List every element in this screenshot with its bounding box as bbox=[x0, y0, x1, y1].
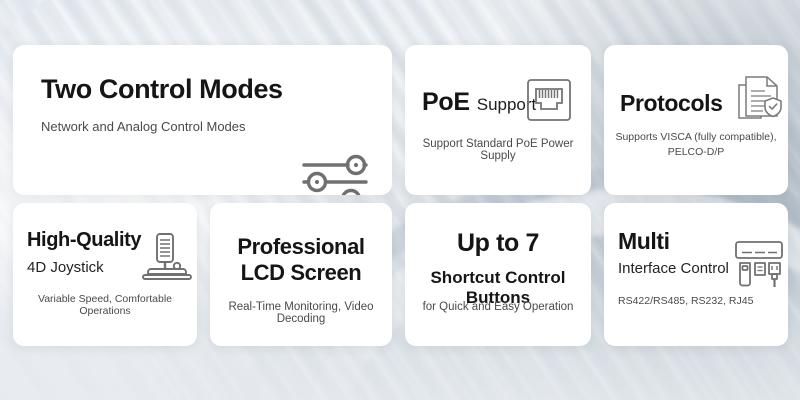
feature-card-grid: Two Control Modes Network and Analog Con… bbox=[0, 0, 800, 400]
card-title: Protocols bbox=[620, 91, 722, 115]
card-title: High-Quality bbox=[27, 230, 141, 251]
card-subtitle: Interface Control bbox=[618, 260, 729, 277]
card-description-line2: PELCO-D/P bbox=[668, 146, 725, 158]
joystick-icon bbox=[141, 228, 193, 284]
card-poe-support[interactable]: PoE Support Support Standard PoE Power S… bbox=[405, 45, 591, 195]
card-title-line1: Professional bbox=[237, 234, 364, 259]
card-multi-interface[interactable]: Multi Interface Control RS422/RS485, RS2… bbox=[604, 203, 788, 346]
usb-hub-icon bbox=[732, 239, 786, 291]
card-protocols[interactable]: Protocols Supports VISCA (fully compatib… bbox=[604, 45, 788, 195]
card-title: Professional LCD Screen bbox=[210, 234, 392, 286]
card-description: Real-Time Monitoring, Video Decoding bbox=[210, 301, 392, 325]
card-description: Network and Analog Control Modes bbox=[41, 119, 246, 134]
card-description: RS422/RS485, RS232, RJ45 bbox=[618, 295, 753, 307]
card-shortcut-buttons[interactable]: Up to 7 Shortcut Control Buttons for Qui… bbox=[405, 203, 591, 346]
card-description: Support Standard PoE Power Supply bbox=[405, 138, 591, 162]
card-description: Variable Speed, Comfortable Operations bbox=[13, 293, 197, 317]
card-high-quality-joystick[interactable]: High-Quality 4D Joystick Variable Speed,… bbox=[13, 203, 197, 346]
sliders-icon bbox=[301, 153, 369, 195]
rj45-port-icon bbox=[526, 78, 572, 122]
card-title-line2: LCD Screen bbox=[241, 260, 362, 285]
documents-shield-icon bbox=[735, 72, 785, 124]
card-description-line1: Supports VISCA (fully compatible), bbox=[615, 131, 776, 143]
card-description: Supports VISCA (fully compatible), PELCO… bbox=[610, 130, 782, 160]
card-title: Multi bbox=[618, 229, 670, 253]
card-lcd-screen[interactable]: Professional LCD Screen Real-Time Monito… bbox=[210, 203, 392, 346]
card-description: for Quick and Easy Operation bbox=[405, 301, 591, 313]
card-title: Two Control Modes bbox=[41, 75, 283, 104]
card-title-strong: PoE bbox=[422, 88, 470, 117]
card-title: Up to 7 bbox=[405, 230, 591, 257]
card-title-row: PoE Support bbox=[422, 88, 536, 117]
card-subtitle: 4D Joystick bbox=[27, 259, 104, 276]
card-two-control-modes[interactable]: Two Control Modes Network and Analog Con… bbox=[13, 45, 392, 195]
